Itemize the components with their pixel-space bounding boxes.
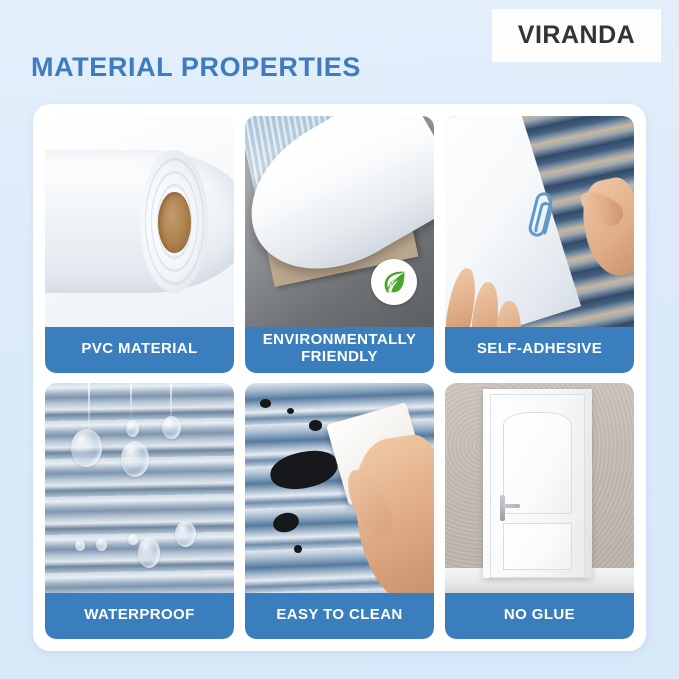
feature-label-pvc-material: PVC MATERIAL <box>45 327 234 373</box>
pvc-roll-cardboard-core <box>158 192 190 253</box>
page-title: MATERIAL PROPERTIES <box>31 52 361 83</box>
water-trail-2 <box>130 383 132 419</box>
feature-grid: PVC MATERIAL <box>45 116 634 639</box>
feature-tile-easy-to-clean[interactable]: EASY TO CLEAN <box>245 383 434 640</box>
feature-label-waterproof: WATERPROOF <box>45 593 234 639</box>
water-droplet-7 <box>75 540 84 551</box>
water-droplet-1 <box>71 429 101 467</box>
door-panel-bottom <box>503 523 571 570</box>
water-droplet-2 <box>121 441 149 477</box>
door-panel-top <box>503 412 571 514</box>
feature-label-easy-to-clean: EASY TO CLEAN <box>245 593 434 639</box>
stain-small-2 <box>287 408 295 414</box>
water-droplet-9 <box>128 534 137 545</box>
feature-tile-self-adhesive[interactable]: SELF-ADHESIVE <box>445 116 634 373</box>
eco-wallpaper-image <box>245 116 434 327</box>
feature-tile-no-glue[interactable]: NO GLUE <box>445 383 634 640</box>
stain-small-4 <box>294 545 302 553</box>
water-droplet-6 <box>175 521 196 546</box>
easy-to-clean-image <box>245 383 434 594</box>
pvc-roll-image <box>45 116 234 327</box>
self-adhesive-image <box>445 116 634 327</box>
water-droplet-5 <box>138 538 161 567</box>
feature-tile-waterproof[interactable]: WATERPROOF <box>45 383 234 640</box>
feature-label-self-adhesive: SELF-ADHESIVE <box>445 327 634 373</box>
brand-logo-text: VIRANDA <box>518 21 635 50</box>
no-glue-image <box>445 383 634 594</box>
door-frame <box>483 389 593 578</box>
feature-tile-environmentally-friendly[interactable]: ENVIRONMENTALLY FRIENDLY <box>245 116 434 373</box>
brand-logo-box: VIRANDA <box>492 9 661 62</box>
feature-card: PVC MATERIAL <box>33 104 646 651</box>
waterproof-image <box>45 383 234 594</box>
door-handle-icon <box>500 495 505 521</box>
feature-label-no-glue: NO GLUE <box>445 593 634 639</box>
feature-label-environmentally-friendly: ENVIRONMENTALLY FRIENDLY <box>245 327 434 373</box>
stain-small-1 <box>260 399 271 407</box>
door-slab <box>490 394 584 578</box>
feature-tile-pvc-material[interactable]: PVC MATERIAL <box>45 116 234 373</box>
